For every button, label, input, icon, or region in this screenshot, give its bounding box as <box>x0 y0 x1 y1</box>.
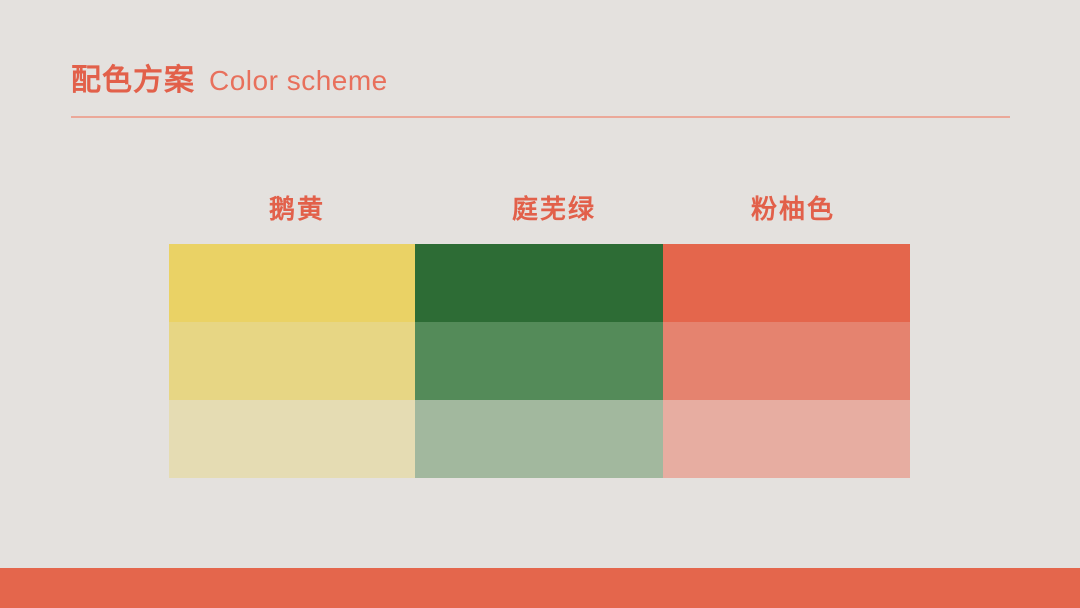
title-row: 配色方案 Color scheme <box>71 66 1011 112</box>
palette-swatch-grid <box>169 244 910 478</box>
swatch-pink-3 <box>663 400 910 478</box>
palette-label-green: 庭芜绿 <box>512 189 596 229</box>
palette-label-yellow: 鹅黄 <box>269 189 325 229</box>
title-underline-rule <box>71 116 1010 118</box>
page-title-cn: 配色方案 <box>71 66 195 96</box>
swatch-pink-1 <box>663 244 910 322</box>
page-title-en: Color scheme <box>209 67 388 95</box>
palette-label-pink: 粉柚色 <box>751 189 835 229</box>
palette-labels-row: 鹅黄 庭芜绿 粉柚色 <box>169 189 910 229</box>
swatch-green-3 <box>415 400 663 478</box>
swatch-pink-2 <box>663 322 910 400</box>
slide-canvas: 配色方案 Color scheme 鹅黄 庭芜绿 粉柚色 <box>0 0 1080 608</box>
footer-accent-bar <box>0 568 1080 608</box>
swatch-green-1 <box>415 244 663 322</box>
swatch-yellow-3 <box>169 400 415 478</box>
swatch-green-2 <box>415 322 663 400</box>
swatch-yellow-2 <box>169 322 415 400</box>
swatch-yellow-1 <box>169 244 415 322</box>
slide-header: 配色方案 Color scheme <box>71 66 1011 122</box>
